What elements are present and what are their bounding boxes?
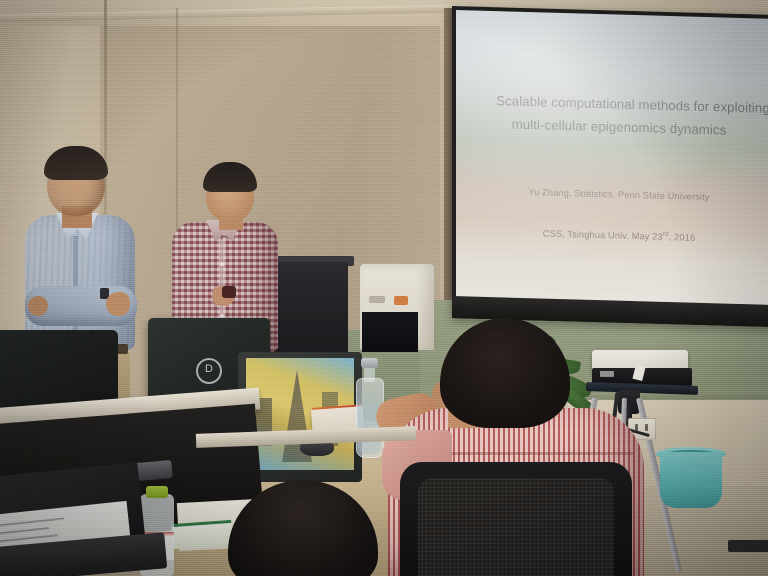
presenter-left-glasses	[56, 176, 98, 185]
dell-logo: D	[196, 358, 222, 384]
screen-glare	[456, 10, 768, 315]
photo-scene: Scalable computational methods for explo…	[0, 0, 768, 576]
printer-logo	[369, 296, 385, 303]
plastic-bottle-cap	[146, 486, 168, 498]
shirt-button	[220, 262, 224, 266]
office-chair-mesh	[418, 478, 614, 576]
presentation-clicker	[222, 286, 236, 298]
projection-screen: Scalable computational methods for explo…	[456, 10, 768, 315]
slide-author: Yu Zhang, Statistics, Penn State Univers…	[456, 185, 768, 204]
presenter-left-hand	[28, 296, 48, 316]
projector-brand-mark	[600, 371, 614, 377]
laptop-screen-line	[0, 517, 64, 526]
printer-control-panel	[728, 540, 768, 552]
printer-status-indicator	[394, 296, 408, 305]
bucket	[660, 452, 722, 508]
slide-venue: CSS, Tsinghua Univ. May 23rd, 2016	[456, 225, 768, 245]
slide-title: Scalable computational methods for explo…	[456, 88, 768, 143]
printer-output-tray	[362, 312, 418, 352]
slide-venue-post: , 2016	[669, 232, 695, 243]
slide-venue-pre: CSS, Tsinghua Univ. May 23	[543, 228, 663, 241]
presenter-left-hand	[106, 292, 130, 316]
laptop-screen-line	[0, 527, 49, 535]
glass-bottle-cap	[361, 358, 378, 368]
outlet-slot	[645, 424, 648, 431]
green-paper	[171, 520, 233, 549]
